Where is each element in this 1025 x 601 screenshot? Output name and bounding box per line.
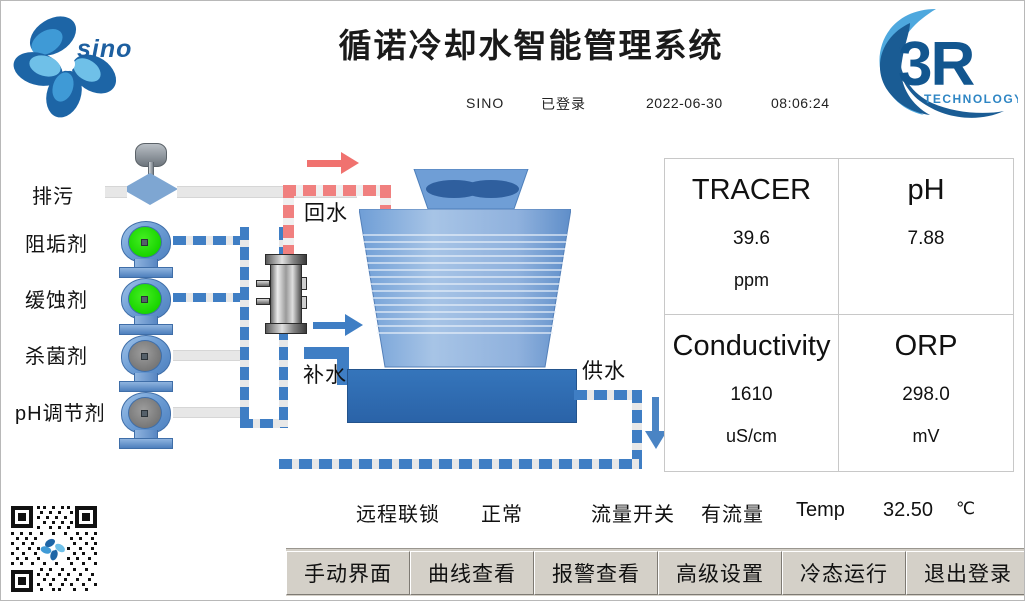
measurement-unit: mV bbox=[913, 426, 940, 447]
svg-text:sino: sino bbox=[77, 35, 132, 63]
label-return-water: 回水 bbox=[304, 197, 348, 227]
measurement-cell-tracer: TRACER 39.6 ppm bbox=[665, 159, 839, 315]
measurement-value: 39.6 bbox=[733, 228, 770, 250]
pipe-blowdown-left bbox=[105, 186, 127, 198]
pump-biocide[interactable] bbox=[117, 335, 175, 391]
label-antiscalant: 阻垢剂 bbox=[25, 228, 88, 257]
vessel-port-left-lower bbox=[256, 298, 270, 305]
return-flow-arrow-head bbox=[341, 152, 359, 174]
supply-pipe-bottom bbox=[279, 459, 642, 469]
button-alarm-view[interactable]: 报警查看 bbox=[534, 551, 658, 595]
analyzer-vessel[interactable] bbox=[263, 250, 307, 336]
current-time: 08:06:24 bbox=[771, 95, 830, 111]
pump-corrosion-inhibitor[interactable] bbox=[117, 278, 175, 334]
supply-flow-arrow-shaft bbox=[652, 397, 659, 435]
valve-body-right bbox=[150, 173, 178, 205]
measurement-name: TRACER bbox=[692, 173, 811, 208]
measurement-value: 1610 bbox=[730, 384, 772, 406]
login-status: 已登录 bbox=[541, 94, 586, 114]
blowdown-valve-icon[interactable] bbox=[119, 143, 181, 205]
measurement-cell-orp: ORP 298.0 mV bbox=[839, 315, 1013, 471]
label-biocide: 杀菌剂 bbox=[25, 340, 88, 369]
cooling-tower-body bbox=[359, 209, 571, 369]
3r-technology-logo: 3R TECHNOLOGY bbox=[858, 3, 1018, 121]
pump-ph-adjuster[interactable] bbox=[117, 392, 175, 448]
button-cold-run[interactable]: 冷态运行 bbox=[782, 551, 906, 595]
measurement-value: 298.0 bbox=[902, 384, 950, 406]
supply-pipe-top bbox=[574, 390, 641, 400]
svg-text:TECHNOLOGY: TECHNOLOGY bbox=[924, 92, 1018, 106]
pump-base bbox=[119, 267, 173, 278]
hmi-screen: sino 循诺冷却水智能管理系统 SINO 已登录 2022-06-30 08:… bbox=[0, 0, 1025, 601]
makeup-flow-arrow-shaft bbox=[313, 322, 345, 329]
svg-text:3R: 3R bbox=[898, 30, 974, 99]
vessel-port-right-lower bbox=[301, 296, 307, 309]
measurement-unit: ppm bbox=[734, 270, 769, 291]
measurement-unit: uS/cm bbox=[726, 426, 777, 447]
remote-interlock-value: 正常 bbox=[481, 498, 523, 527]
pump-center-dot bbox=[141, 239, 148, 246]
button-manual-screen[interactable]: 手动界面 bbox=[286, 551, 410, 595]
qr-code-icon bbox=[7, 502, 101, 596]
toolbar: 手动界面 曲线查看 报警查看 高级设置 冷态运行 退出登录 bbox=[286, 548, 1025, 596]
label-ph-adjuster: pH调节剂 bbox=[15, 397, 106, 426]
button-trend-view[interactable]: 曲线查看 bbox=[410, 551, 534, 595]
measurement-name: pH bbox=[907, 173, 944, 208]
pump-center-dot bbox=[141, 353, 148, 360]
flow-switch-value: 有流量 bbox=[701, 498, 764, 527]
cooling-tower-fan-housing bbox=[406, 169, 536, 211]
current-date: 2022-06-30 bbox=[646, 95, 723, 111]
vessel-port-left-upper bbox=[256, 280, 270, 287]
measurement-name: Conductivity bbox=[673, 329, 831, 364]
dosing-line-4 bbox=[173, 407, 245, 418]
dosing-manifold-vertical bbox=[240, 227, 249, 427]
label-makeup-water: 补水 bbox=[303, 359, 347, 389]
vessel-shell bbox=[270, 260, 302, 326]
temp-unit: ℃ bbox=[956, 499, 975, 519]
vessel-bottom-cap bbox=[265, 323, 307, 334]
measurement-cell-conductivity: Conductivity 1610 uS/cm bbox=[665, 315, 839, 471]
return-water-top bbox=[283, 185, 391, 196]
vessel-top-cap bbox=[265, 254, 307, 265]
pump-base bbox=[119, 324, 173, 335]
button-advanced-setup[interactable]: 高级设置 bbox=[658, 551, 782, 595]
label-supply-water: 供水 bbox=[582, 355, 626, 385]
measurement-cell-ph: pH 7.88 bbox=[839, 159, 1013, 315]
temp-value: 32.50 bbox=[883, 499, 933, 522]
remote-interlock-label: 远程联锁 bbox=[356, 498, 440, 527]
measurement-value: 7.88 bbox=[908, 228, 945, 250]
measurement-name: ORP bbox=[895, 329, 958, 364]
pump-antiscalant[interactable] bbox=[117, 221, 175, 277]
cooling-tower-basin bbox=[347, 369, 577, 423]
label-blowdown: 排污 bbox=[32, 180, 74, 209]
pump-base bbox=[119, 381, 173, 392]
supply-pipe-right-riser bbox=[632, 390, 642, 468]
header-meta: SINO 已登录 2022-06-30 08:06:24 bbox=[441, 93, 901, 115]
return-flow-arrow-shaft bbox=[307, 160, 341, 167]
label-corrosion-inhibitor: 缓蚀剂 bbox=[25, 284, 88, 313]
flow-switch-label: 流量开关 bbox=[591, 498, 675, 527]
dosing-line-1 bbox=[173, 236, 245, 245]
dosing-line-3 bbox=[173, 350, 245, 361]
pump-center-dot bbox=[141, 296, 148, 303]
vessel-port-right-upper bbox=[301, 277, 307, 290]
sino-logo: sino bbox=[11, 9, 143, 119]
status-bar: 远程联锁 正常 流量开关 有流量 Temp 32.50 ℃ bbox=[356, 496, 1016, 528]
measurement-panel: TRACER 39.6 ppm pH 7.88 Conductivity 161… bbox=[664, 158, 1014, 472]
pump-base bbox=[119, 438, 173, 449]
button-logout[interactable]: 退出登录 bbox=[906, 551, 1025, 595]
dosing-line-2 bbox=[173, 293, 245, 302]
logged-user: SINO bbox=[466, 95, 504, 111]
temp-label: Temp bbox=[796, 499, 845, 522]
pump-center-dot bbox=[141, 410, 148, 417]
page-title: 循诺冷却水智能管理系统 bbox=[301, 19, 761, 67]
